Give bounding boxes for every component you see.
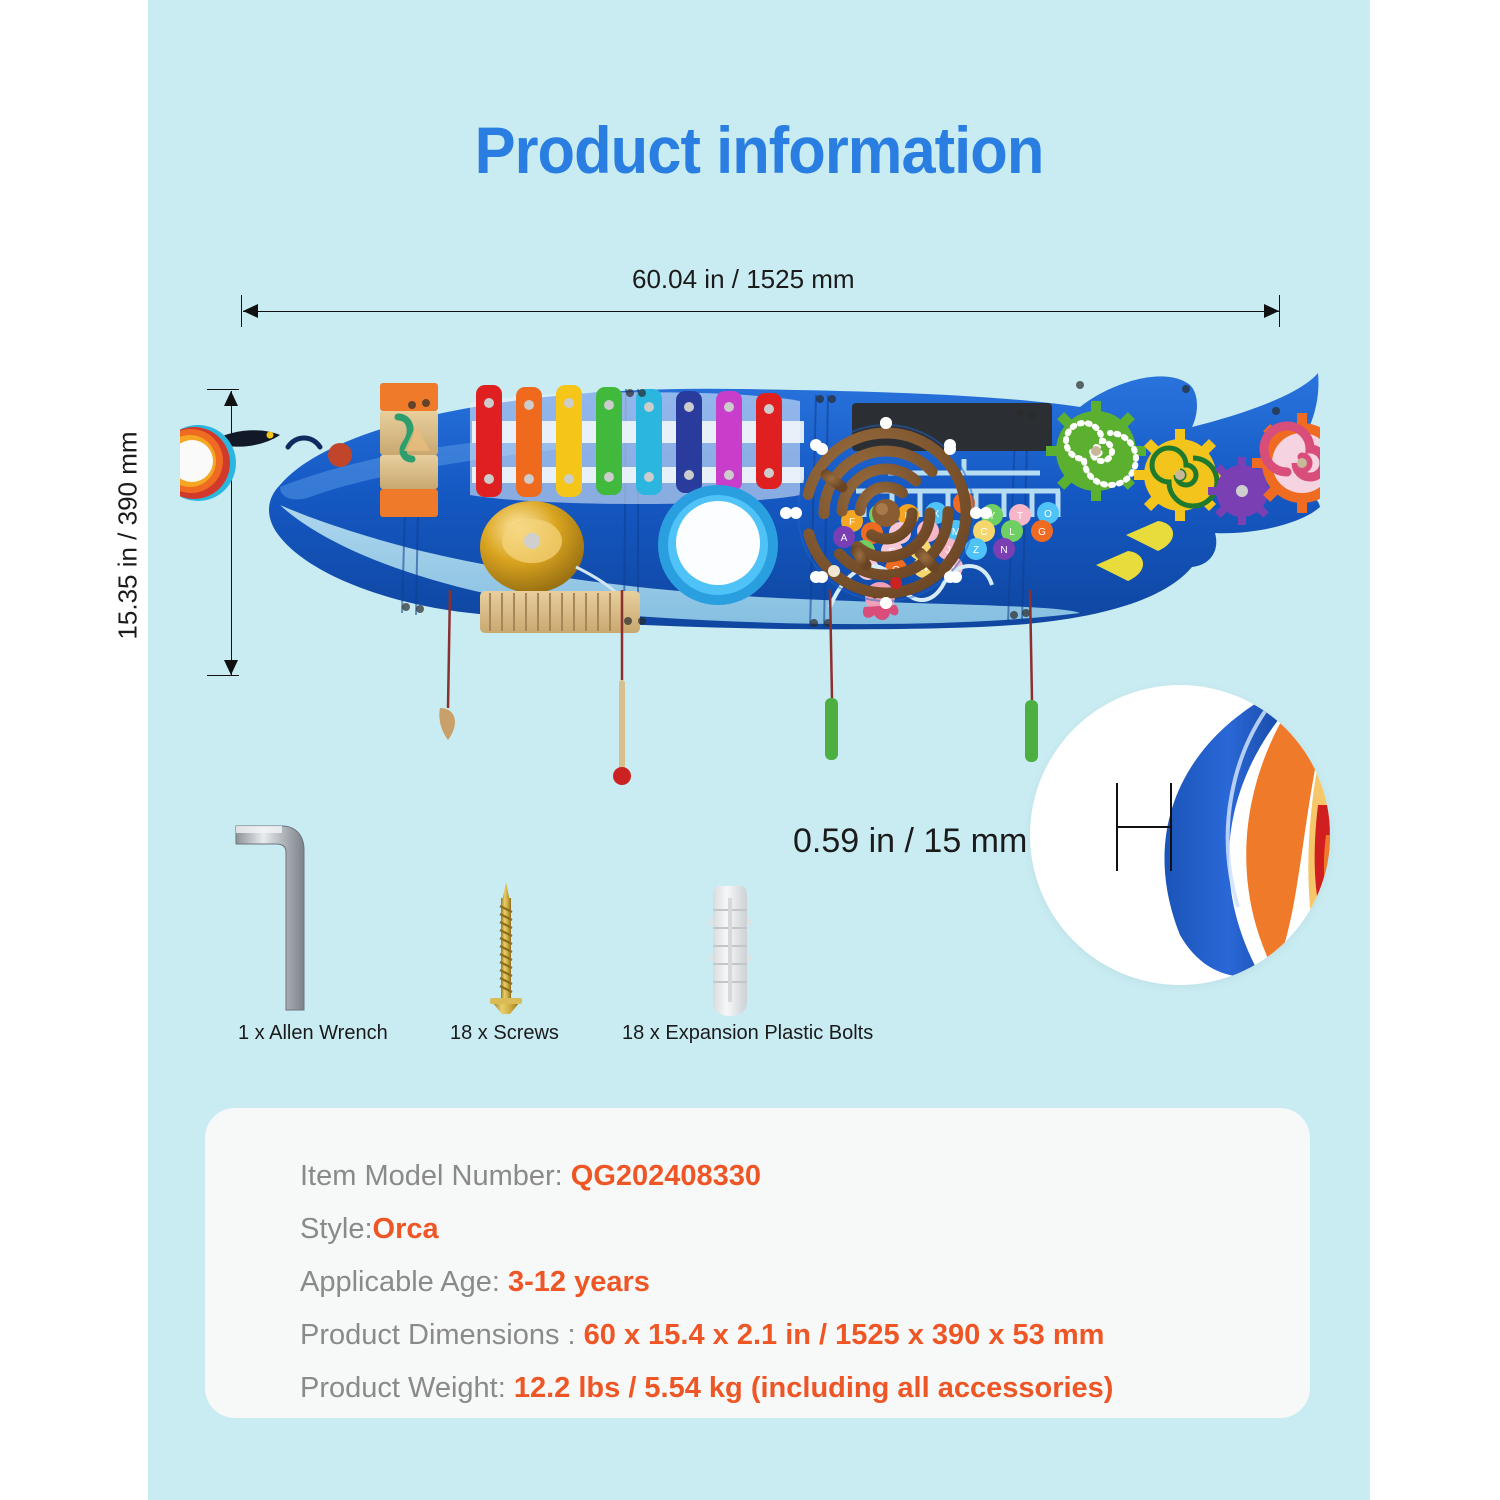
expansion-bolt-icon xyxy=(705,880,755,1020)
allen-wrench-label: 1 x Allen Wrench xyxy=(238,1022,388,1045)
hanging-accessories xyxy=(400,590,1100,790)
spec-label-weight: Product Weight: xyxy=(300,1372,514,1404)
gear-yellow xyxy=(1134,429,1226,521)
infographic-page: Product information 60.04 in / 1525 mm 1… xyxy=(0,0,1500,1500)
width-dim-line xyxy=(243,311,1279,312)
svg-text:A: A xyxy=(841,533,848,544)
width-dim-tick-right xyxy=(1279,295,1280,327)
spec-label-age: Applicable Age: xyxy=(300,1266,508,1298)
spec-row-model-number: Item Model Number: QG202408330 xyxy=(300,1160,761,1193)
spec-value-weight: 12.2 lbs / 5.54 kg (including all access… xyxy=(514,1372,1114,1404)
svg-text:N: N xyxy=(1000,545,1007,556)
svg-text:F: F xyxy=(849,517,855,528)
screw-icon xyxy=(480,880,532,1020)
svg-text:G: G xyxy=(1038,527,1046,538)
height-dimension-label: 15.35 in / 390 mm xyxy=(113,396,144,676)
spec-row-age: Applicable Age: 3-12 years xyxy=(300,1266,650,1299)
width-dim-arrow-left xyxy=(243,304,258,318)
allen-wrench-icon xyxy=(230,818,340,1018)
width-dimension-label: 60.04 in / 1525 mm xyxy=(632,264,855,295)
thickness-dimension-label: 0.59 in / 15 mm xyxy=(793,822,1027,861)
page-title: Product information xyxy=(191,112,1327,188)
xylophone xyxy=(470,385,804,504)
spec-label-model-number: Item Model Number: xyxy=(300,1160,571,1192)
screws-label: 18 x Screws xyxy=(450,1022,559,1045)
svg-text:T: T xyxy=(1017,511,1023,522)
svg-text:L: L xyxy=(1009,527,1015,538)
svg-text:C: C xyxy=(980,527,987,538)
svg-text:O: O xyxy=(1044,509,1052,520)
spec-label-style: Style: xyxy=(300,1213,373,1245)
thickness-zoom-circle xyxy=(1030,685,1330,985)
gear-green xyxy=(1046,401,1146,501)
cheek-dot xyxy=(328,443,352,467)
drumstick xyxy=(613,680,631,785)
spec-value-style: Orca xyxy=(373,1213,439,1245)
wooden-pick xyxy=(439,708,455,740)
spec-row-dimensions: Product Dimensions : 60 x 15.4 x 2.1 in … xyxy=(300,1319,1104,1352)
mirror-circle xyxy=(658,485,778,605)
width-dim-tick-left xyxy=(241,295,242,327)
smile xyxy=(288,438,320,447)
width-dim-arrow-right xyxy=(1264,304,1279,318)
spec-row-weight: Product Weight: 12.2 lbs / 5.54 kg (incl… xyxy=(300,1372,1113,1405)
expansion-bolts-label: 18 x Expansion Plastic Bolts xyxy=(622,1022,873,1045)
spec-value-age: 3-12 years xyxy=(508,1266,650,1298)
thickness-cross-section xyxy=(1030,685,1330,985)
specifications-card: Item Model Number: QG202408330 Style:Orc… xyxy=(205,1108,1310,1418)
green-mallet-1 xyxy=(825,698,838,760)
spec-row-style: Style:Orca xyxy=(300,1213,439,1246)
spec-value-dimensions: 60 x 15.4 x 2.1 in / 1525 x 390 x 53 mm xyxy=(584,1319,1105,1351)
svg-text:Z: Z xyxy=(973,545,979,556)
spec-label-dimensions: Product Dimensions : xyxy=(300,1319,584,1351)
spec-value-model-number: QG202408330 xyxy=(571,1160,761,1192)
